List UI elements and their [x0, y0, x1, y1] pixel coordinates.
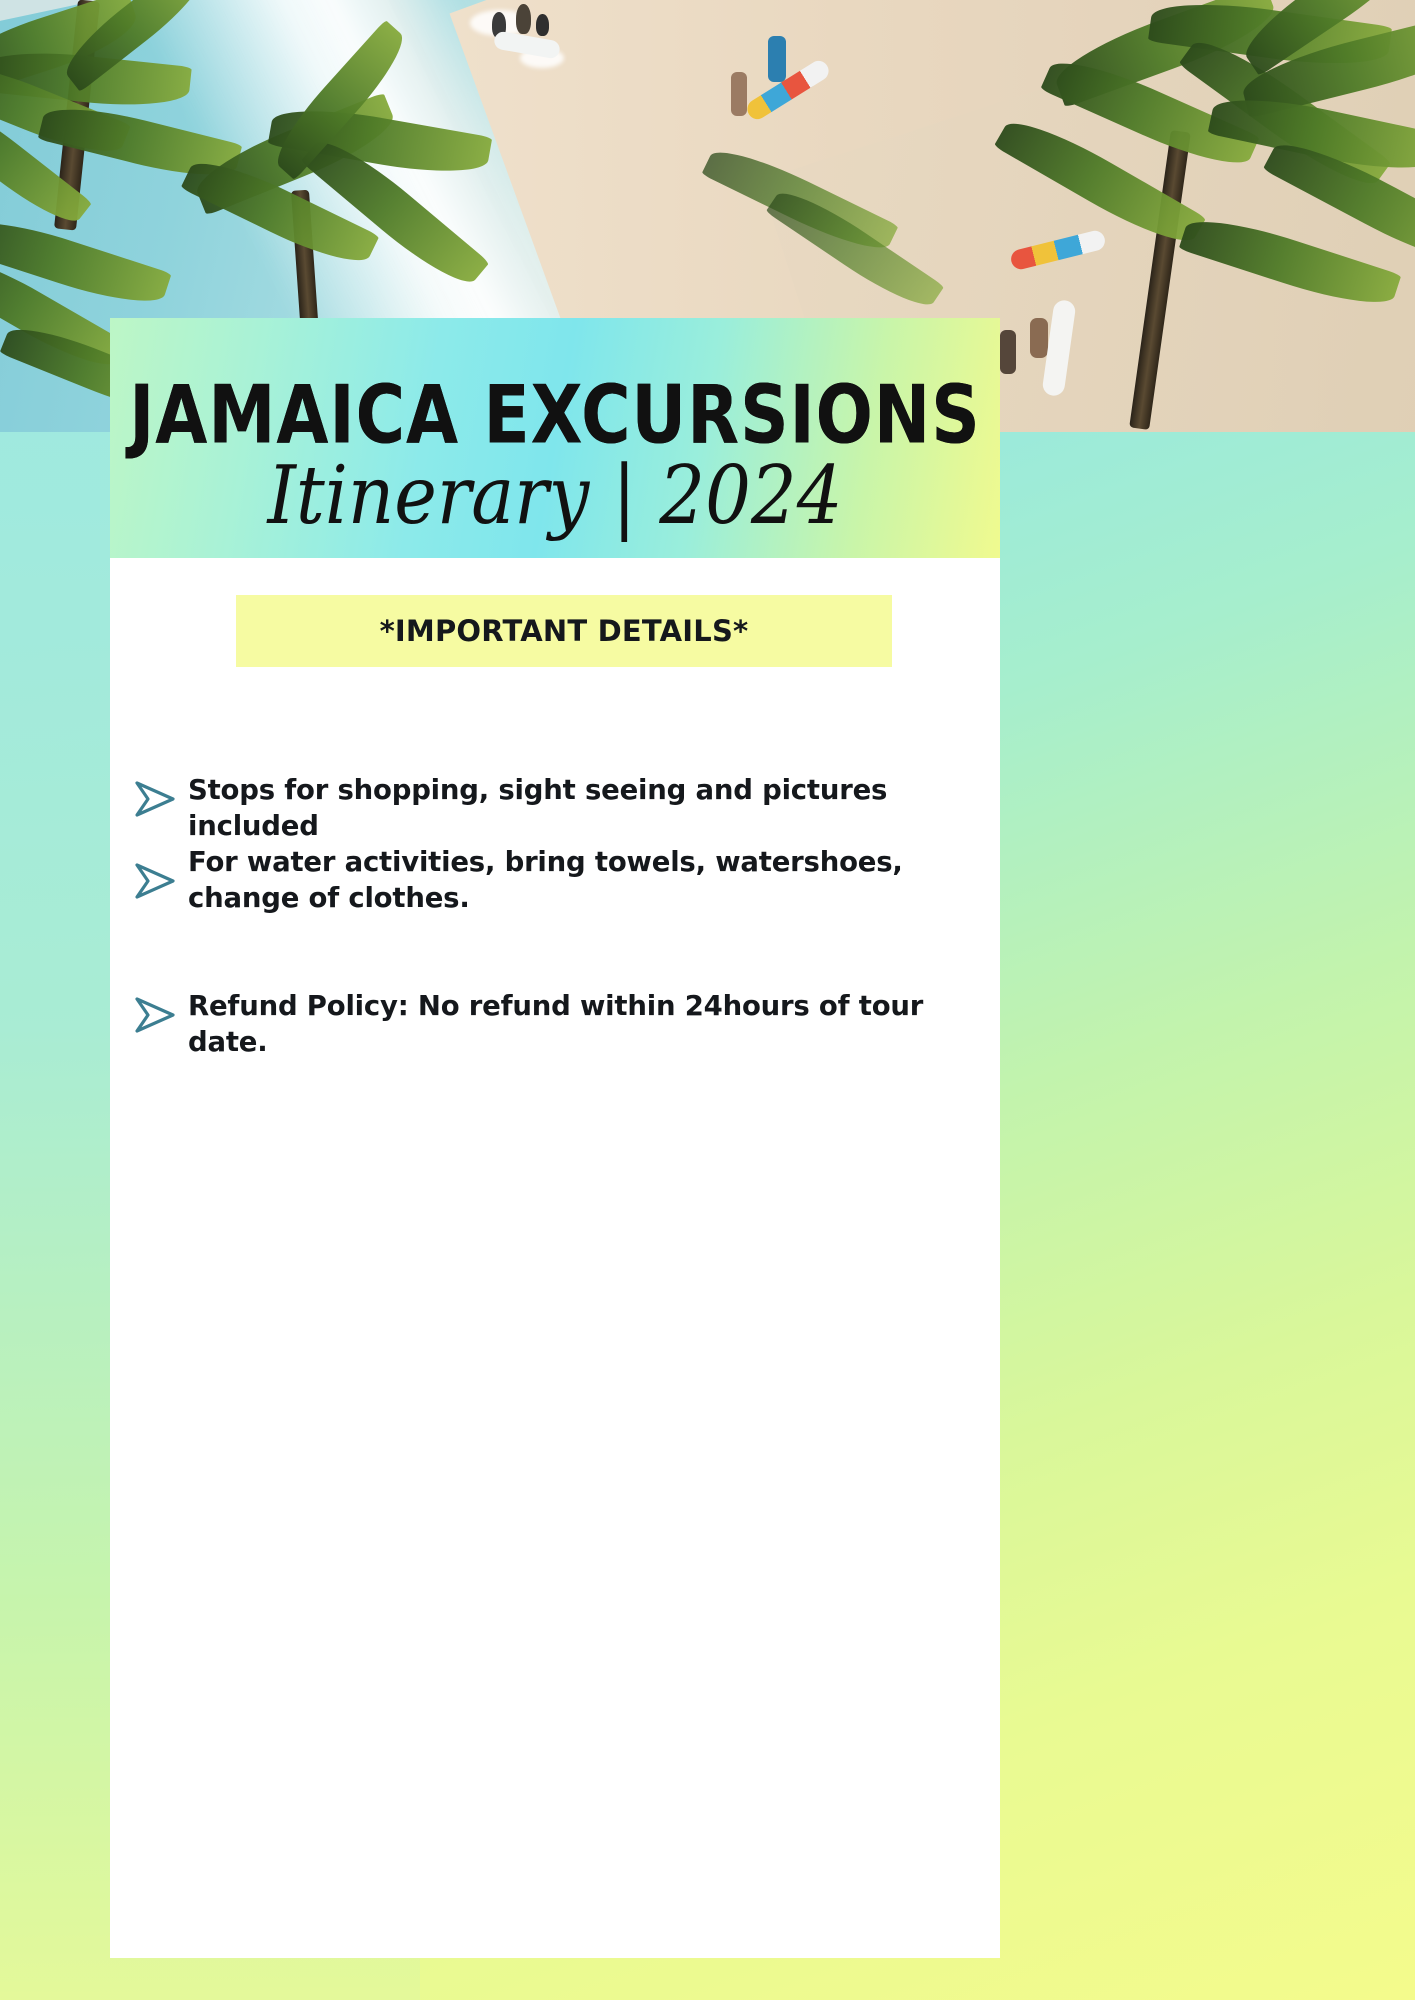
arrow-bullet-icon	[132, 859, 178, 903]
person-walking	[731, 72, 747, 116]
itinerary-card: JAMAICA EXCURSIONS Itinerary | 2024 *IMP…	[110, 318, 1000, 1958]
title-banner: JAMAICA EXCURSIONS Itinerary | 2024	[110, 318, 1000, 558]
list-item: For water activities, bring towels, wate…	[132, 845, 962, 917]
arrow-bullet-icon	[132, 777, 178, 821]
list-item: Refund Policy: No refund within 24hours …	[132, 989, 962, 1061]
important-details-label: *IMPORTANT DETAILS*	[380, 614, 749, 648]
page-subtitle: Itinerary | 2024	[110, 448, 1000, 542]
poster-canvas: JAMAICA EXCURSIONS Itinerary | 2024 *IMP…	[0, 0, 1415, 2000]
swimmer-figure	[516, 4, 531, 34]
list-item-text: For water activities, bring towels, wate…	[188, 845, 948, 917]
list-item-text: Refund Policy: No refund within 24hours …	[188, 989, 948, 1061]
person-standing	[1000, 330, 1016, 374]
important-details-banner: *IMPORTANT DETAILS*	[236, 595, 892, 667]
list-item: Stops for shopping, sight seeing and pic…	[132, 773, 962, 845]
person-walking	[768, 36, 786, 82]
list-item-text: Stops for shopping, sight seeing and pic…	[188, 773, 948, 845]
arrow-bullet-icon	[132, 993, 178, 1037]
person-sitting	[1030, 318, 1048, 358]
swimmer-figure	[536, 14, 549, 36]
